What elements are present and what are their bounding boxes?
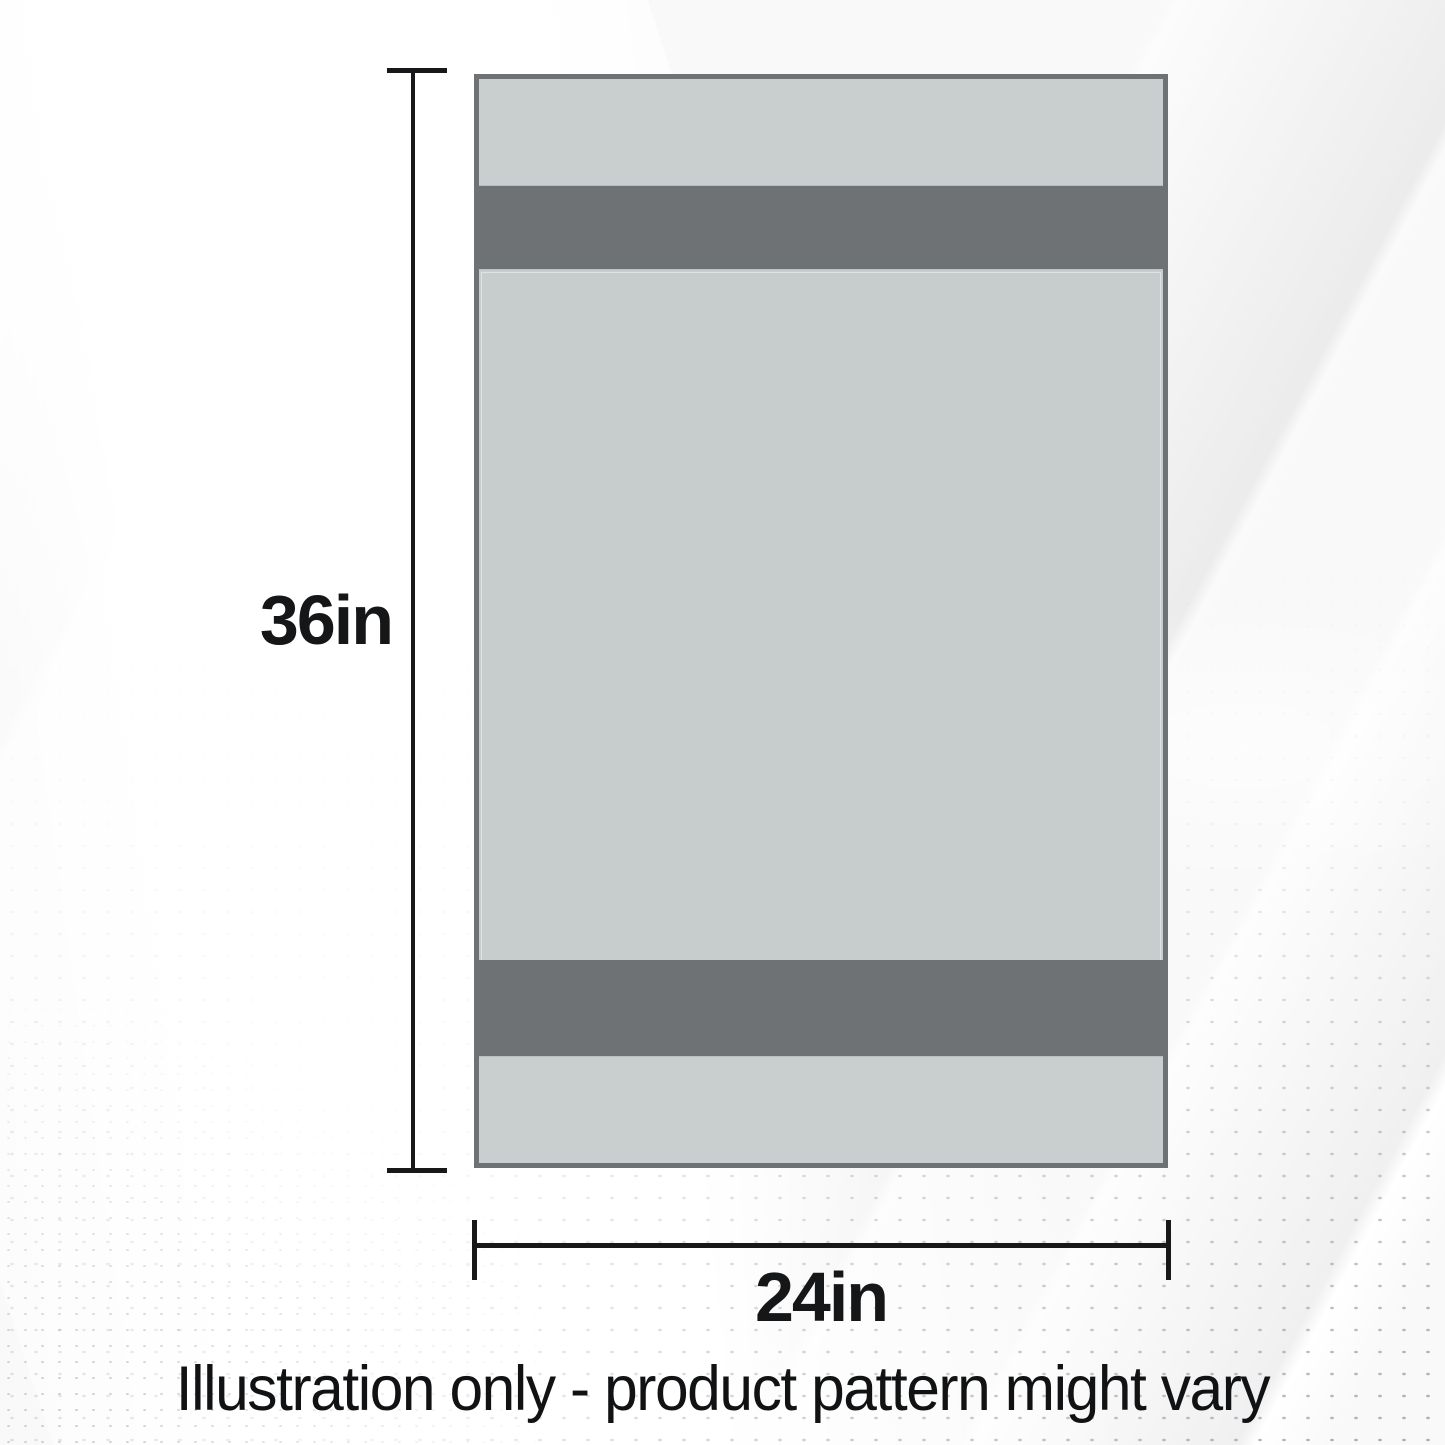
height-dimension-line bbox=[411, 70, 415, 1170]
illustration-canvas: 36in 24in Illustration only - product pa… bbox=[0, 0, 1445, 1445]
height-dimension-cap-bottom bbox=[387, 1168, 447, 1173]
height-dimension-label: 36in bbox=[0, 585, 392, 655]
towel-band-top-dark-stripe bbox=[479, 186, 1163, 269]
towel-band-bottom-dark-stripe bbox=[479, 960, 1163, 1056]
towel-band-top-light bbox=[479, 79, 1163, 186]
towel-main-panel bbox=[479, 269, 1163, 973]
width-dimension-line bbox=[474, 1243, 1168, 1248]
towel-illustration bbox=[474, 74, 1168, 1168]
width-dimension-label: 24in bbox=[474, 1262, 1168, 1332]
disclaimer-caption: Illustration only - product pattern migh… bbox=[29, 1358, 1416, 1421]
towel-band-bottom-light bbox=[479, 1056, 1163, 1163]
towel-main-panel-inner-outline bbox=[481, 272, 1161, 970]
height-dimension-cap-top bbox=[387, 68, 447, 73]
